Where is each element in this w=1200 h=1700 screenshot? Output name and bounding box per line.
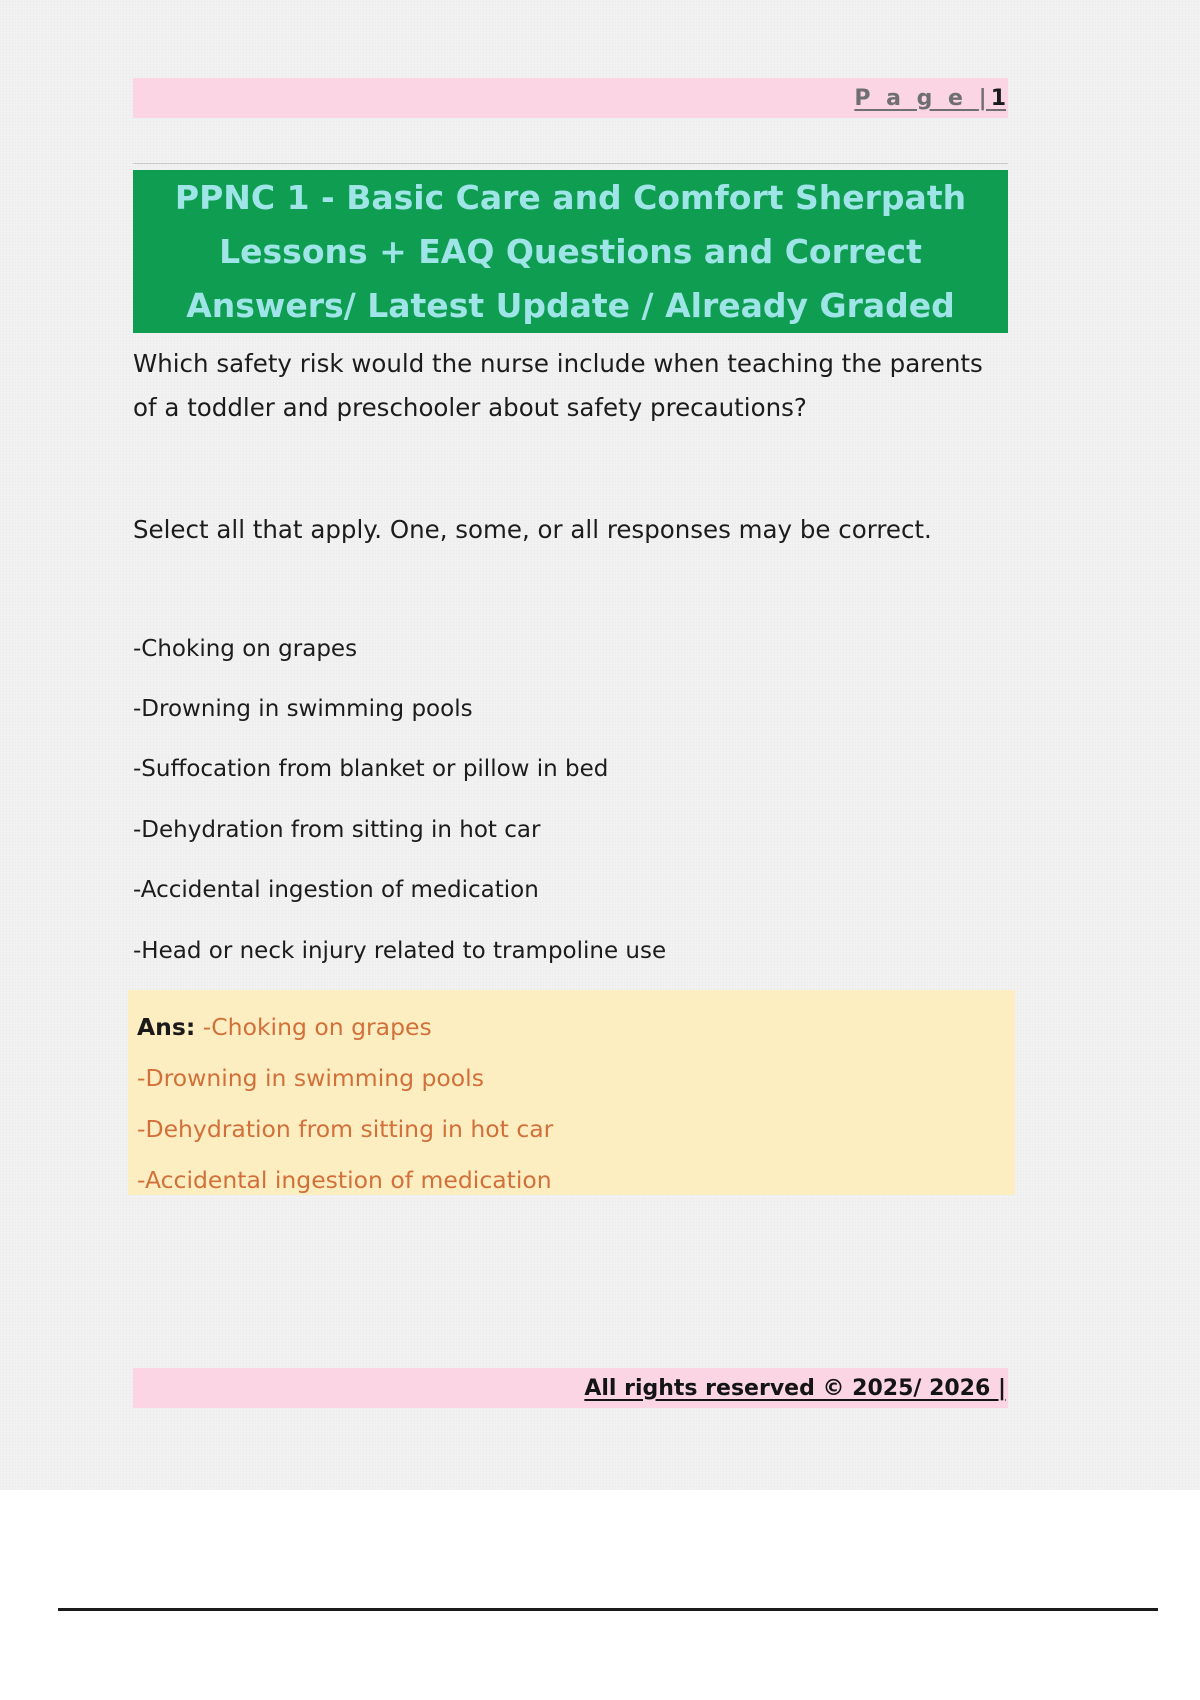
page-word: P a g e	[854, 86, 978, 111]
copyright-text: All rights reserved © 2025/ 2026 |	[584, 1376, 1008, 1401]
question-instruction: Select all that apply. One, some, or all…	[133, 508, 1013, 552]
page-footer-band: All rights reserved © 2025/ 2026 |	[133, 1368, 1008, 1408]
title-line-1: PPNC 1 - Basic Care and Comfort Sherpath	[175, 171, 966, 225]
document-title-banner: PPNC 1 - Basic Care and Comfort Sherpath…	[133, 170, 1008, 333]
page-number-label: P a g e |1	[854, 86, 1008, 111]
page-number-value: 1	[991, 86, 1006, 111]
title-line-2: Lessons + EAQ Questions and Correct	[219, 225, 922, 279]
answer-line-2: -Drowning in swimming pools	[137, 1053, 1015, 1104]
answer-text-1: -Choking on grapes	[195, 1013, 431, 1041]
answer-line-4: -Accidental ingestion of medication	[137, 1155, 1015, 1206]
page-bottom-area	[0, 1611, 1200, 1700]
page-header-band: P a g e |1	[133, 78, 1008, 118]
option-item-1: -Choking on grapes	[133, 634, 1013, 664]
answer-highlight-box: Ans: -Choking on grapes -Drowning in swi…	[128, 990, 1015, 1195]
option-item-6: -Head or neck injury related to trampoli…	[133, 936, 1013, 966]
page-bottom-margin	[0, 1490, 1200, 1610]
option-item-2: -Drowning in swimming pools	[133, 694, 1013, 724]
option-item-4: -Dehydration from sitting in hot car	[133, 815, 1013, 845]
answer-line-1: Ans: -Choking on grapes	[137, 1002, 1015, 1053]
page-separator: |	[979, 86, 991, 111]
answer-label: Ans:	[137, 1013, 195, 1041]
header-divider-rule	[133, 163, 1008, 164]
option-item-3: -Suffocation from blanket or pillow in b…	[133, 754, 1013, 784]
question-stem: Which safety risk would the nurse includ…	[133, 342, 1013, 430]
option-item-5: -Accidental ingestion of medication	[133, 875, 1013, 905]
title-line-3: Answers/ Latest Update / Already Graded	[186, 279, 955, 333]
answer-line-3: -Dehydration from sitting in hot car	[137, 1104, 1015, 1155]
